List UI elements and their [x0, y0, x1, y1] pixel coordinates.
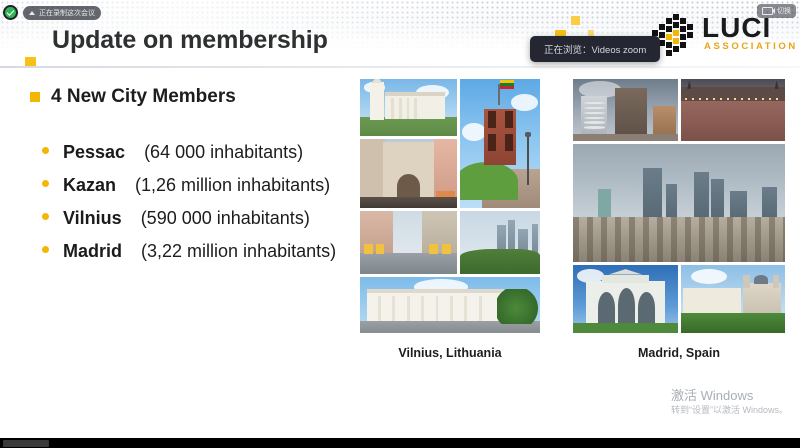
- recording-indicator[interactable]: 正在录制这次会议: [23, 6, 101, 20]
- caption-madrid: Madrid, Spain: [573, 346, 785, 360]
- city-population: (64 000 inhabitants): [144, 142, 303, 163]
- bottom-chip: [3, 440, 49, 447]
- accent-square-icon: [571, 16, 580, 25]
- header-divider: [0, 66, 800, 68]
- shield-check-icon[interactable]: [3, 5, 18, 20]
- photo-gran-via: [573, 79, 678, 141]
- square-bullet-icon: [30, 92, 40, 102]
- windows-activation-watermark: 激活 Windows 转到“设置”以激活 Windows。: [671, 388, 788, 416]
- bottom-letterbox: [0, 438, 800, 448]
- luci-wordmark: LUCI: [702, 14, 771, 42]
- photo-vilnius-skyline: [460, 211, 540, 274]
- city-population: (590 000 inhabitants): [141, 208, 310, 229]
- list-item: Vilnius (590 000 inhabitants): [42, 208, 372, 241]
- city-name: Kazan: [63, 175, 116, 196]
- main-bullet-label: 4 New City Members: [51, 86, 236, 108]
- dot-bullet-icon: [42, 180, 49, 187]
- photo-puerta-de-alcala: [573, 265, 678, 333]
- vilnius-photo-collage: [360, 79, 540, 330]
- city-list: Pessac (64 000 inhabitants) Kazan (1,26 …: [42, 142, 372, 274]
- screen-root: Update on membership: [0, 0, 800, 448]
- watermark-title: 激活 Windows: [671, 388, 788, 404]
- city-name: Vilnius: [63, 208, 122, 229]
- madrid-photo-collage: [573, 79, 785, 330]
- lithuanian-flag-icon: [500, 80, 514, 89]
- caption-vilnius: Vilnius, Lithuania: [360, 346, 540, 360]
- meeting-status-pills: 正在录制这次会议: [3, 5, 101, 20]
- photo-madrid-skyline: [573, 144, 785, 262]
- city-population: (3,22 million inhabitants): [141, 241, 336, 262]
- dot-bullet-icon: [42, 147, 49, 154]
- photo-royal-palace: [681, 265, 785, 333]
- photo-gediminas-tower: [460, 79, 540, 208]
- dot-bullet-icon: [42, 213, 49, 220]
- main-bullet: 4 New City Members: [30, 86, 236, 108]
- city-population: (1,26 million inhabitants): [135, 175, 330, 196]
- photo-gate-of-dawn: [360, 139, 457, 208]
- luci-subtitle: ASSOCIATION: [704, 42, 798, 52]
- list-item: Pessac (64 000 inhabitants): [42, 142, 372, 175]
- presentation-slide: Update on membership: [0, 0, 800, 438]
- video-zoom-tooltip: 正在浏览：Videos zoom: [530, 36, 660, 62]
- photo-presidential-palace: [360, 277, 540, 333]
- luci-logo: LUCI ASSOCIATION: [652, 12, 792, 60]
- list-item: Kazan (1,26 million inhabitants): [42, 175, 372, 208]
- view-switch-control[interactable]: 切换: [757, 4, 796, 18]
- watermark-subtitle: 转到“设置”以激活 Windows。: [671, 404, 788, 416]
- triangle-icon: [29, 11, 35, 15]
- page-title: Update on membership: [52, 26, 328, 55]
- view-switch-label: 切换: [777, 6, 791, 16]
- list-item: Madrid (3,22 million inhabitants): [42, 241, 372, 274]
- city-name: Pessac: [63, 142, 125, 163]
- photo-vilnius-cathedral: [360, 79, 457, 136]
- photo-old-town-street: [360, 211, 457, 274]
- dot-bullet-icon: [42, 246, 49, 253]
- city-name: Madrid: [63, 241, 122, 262]
- photo-plaza-mayor: [681, 79, 785, 141]
- recording-label: 正在录制这次会议: [39, 8, 95, 18]
- camera-icon: [762, 7, 773, 15]
